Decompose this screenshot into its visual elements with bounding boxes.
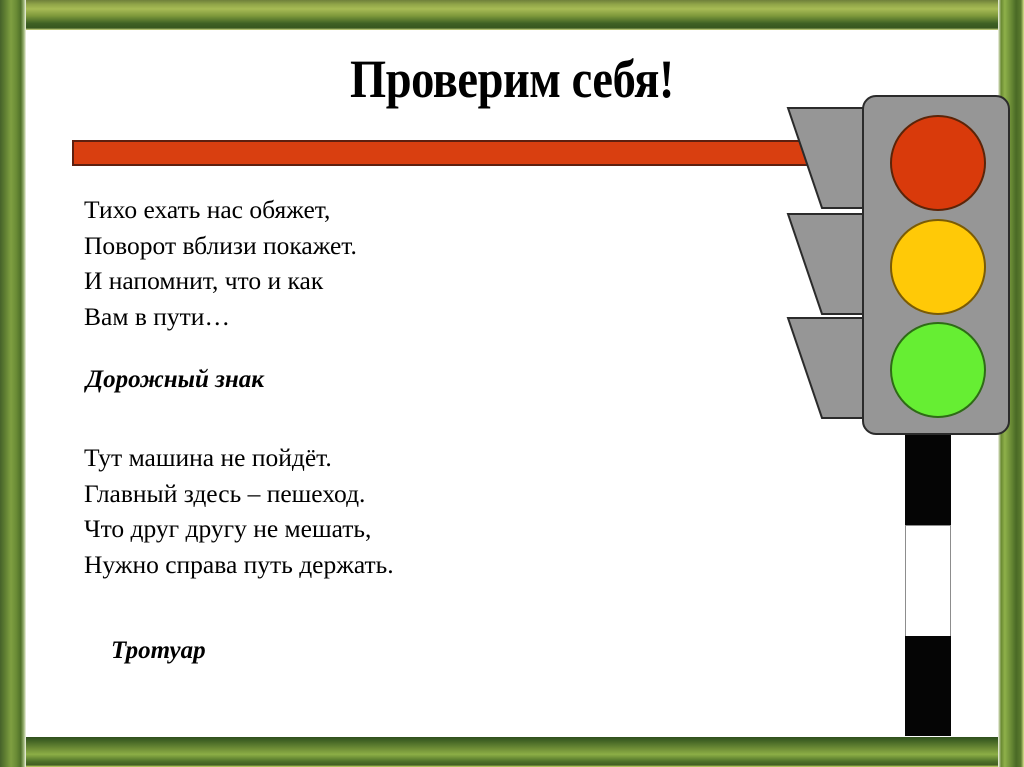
green-lamp-icon <box>890 322 986 418</box>
visor-yellow-icon <box>788 214 866 314</box>
red-lamp-icon <box>890 115 986 211</box>
title-accent-bar <box>72 140 846 166</box>
riddle-answer-2: Тротуар <box>111 637 206 665</box>
pole-segment-top <box>905 432 951 527</box>
pole-segment-middle <box>905 525 951 637</box>
slide-canvas: Проверим себя! Тихо ехать нас обяжет, По… <box>0 0 1024 767</box>
yellow-lamp-icon <box>890 219 986 315</box>
visor-red-icon <box>788 108 866 208</box>
riddle-text-2: Тут машина не пойдёт. Главный здесь – пе… <box>84 440 394 582</box>
frame-border-top <box>0 0 1024 30</box>
riddle-text-1: Тихо ехать нас обяжет, Поворот вблизи по… <box>84 192 357 334</box>
traffic-light-housing <box>862 95 1010 435</box>
frame-border-left <box>0 0 26 767</box>
visor-green-icon <box>788 318 866 418</box>
riddle-answer-1: Дорожный знак <box>86 366 264 394</box>
pole-segment-bottom <box>905 636 951 736</box>
traffic-light-icon <box>782 92 1022 752</box>
